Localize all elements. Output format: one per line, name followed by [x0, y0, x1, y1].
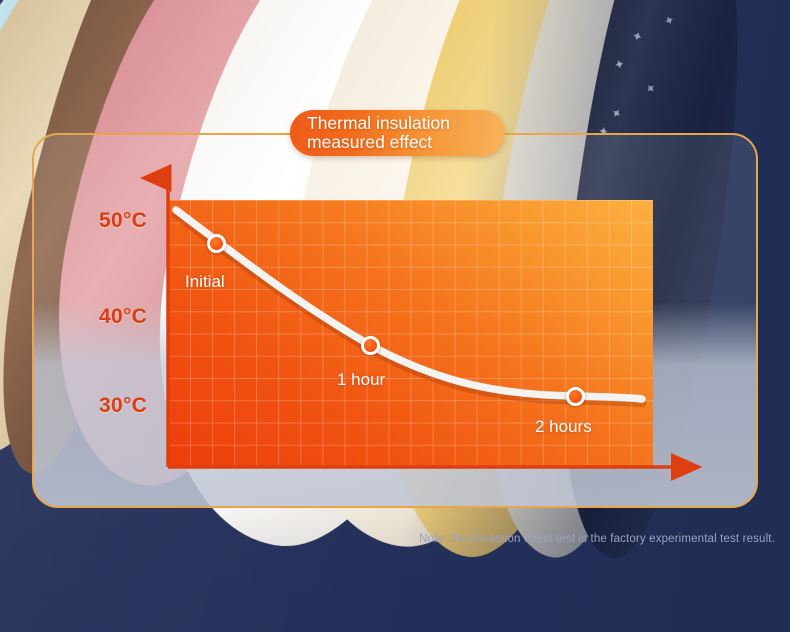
screenshot-stage: ✦ ✦ ✦ ✦ ✦ ✦ [0, 0, 790, 632]
footnote-text: Note: the insulation effect test is the … [0, 533, 775, 545]
chart-title-text: Thermal insulation measured effect [307, 114, 450, 152]
background-bottom-shade [0, 512, 790, 632]
insulation-card [32, 133, 758, 508]
chart-title-badge: Thermal insulation measured effect [290, 110, 505, 156]
